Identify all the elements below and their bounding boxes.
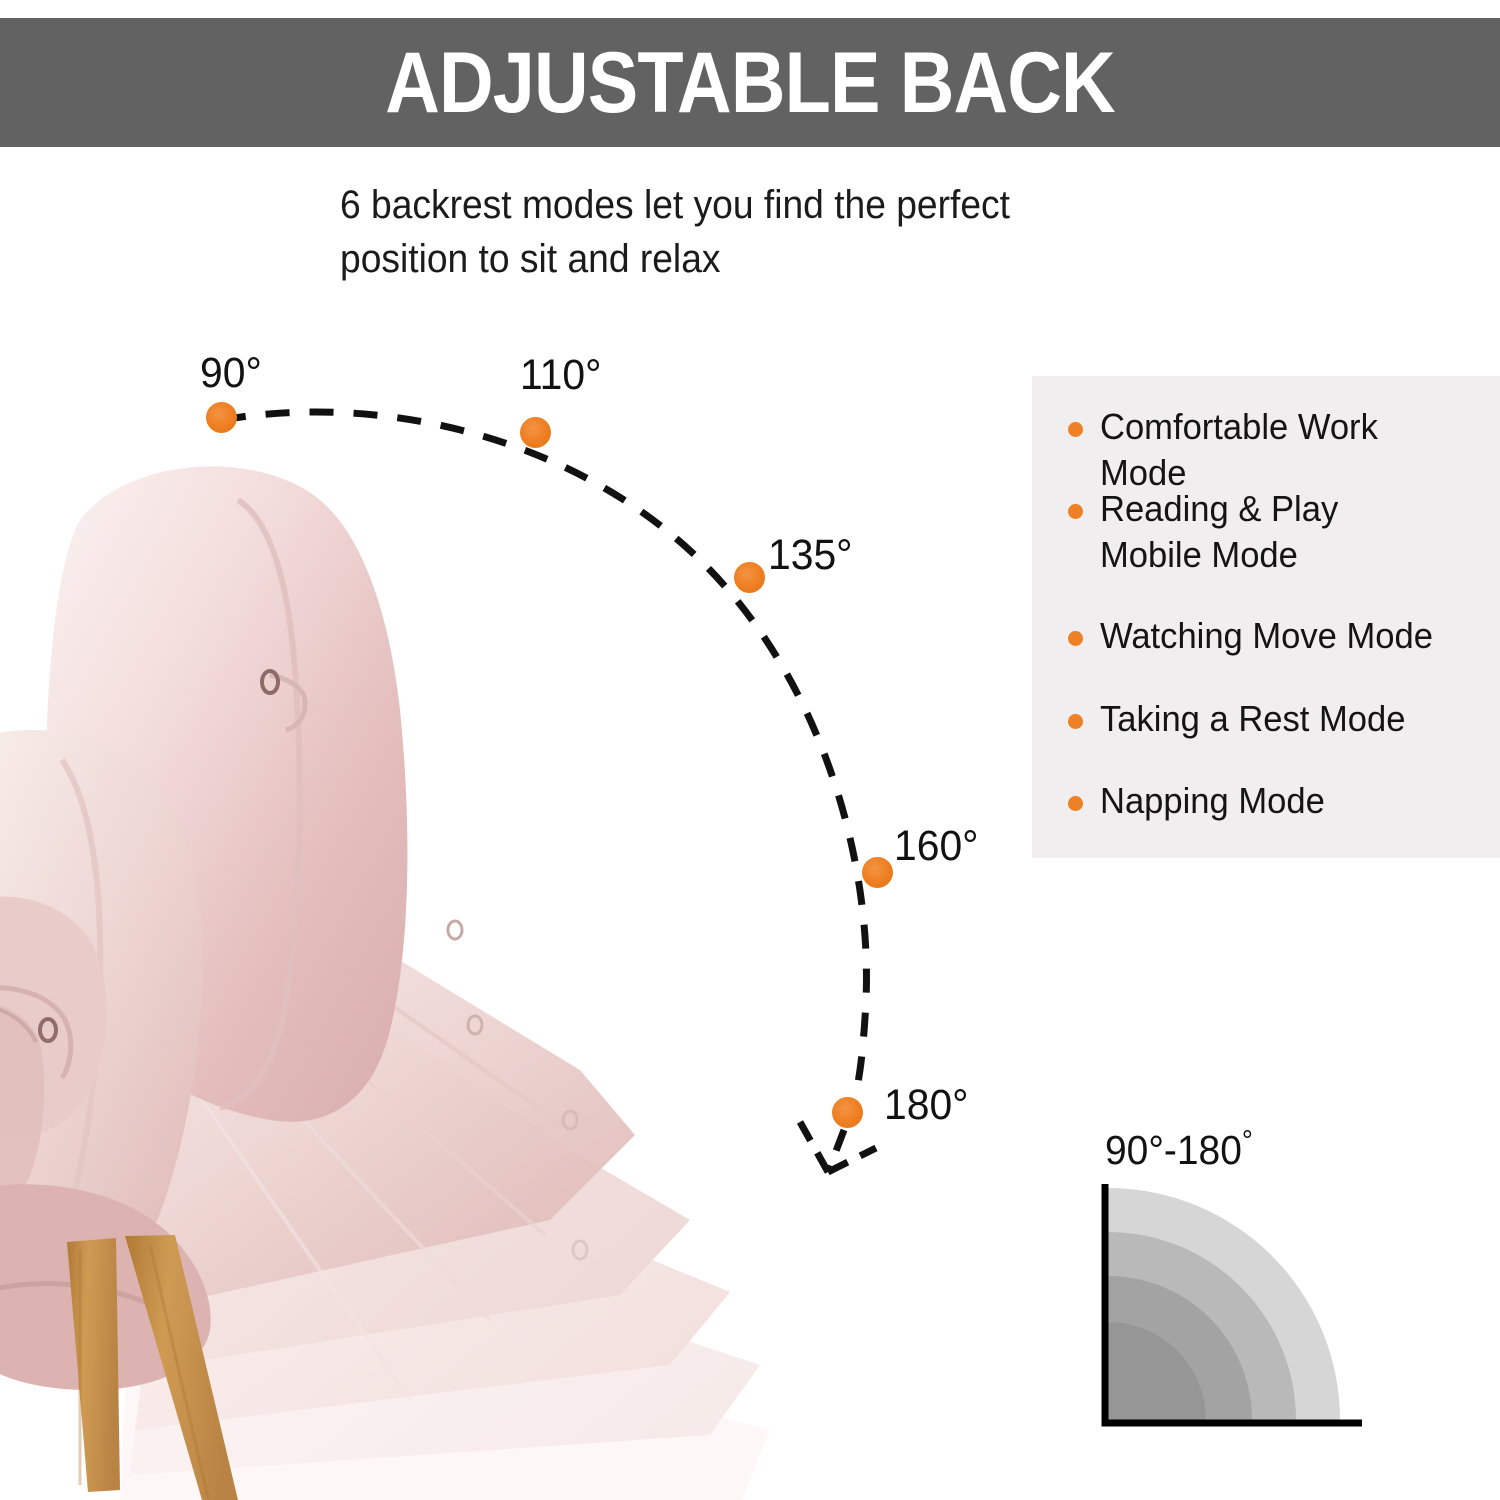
arrow-barb-left xyxy=(800,1122,828,1172)
mode-label: Reading & Play Mobile Mode xyxy=(1100,486,1338,578)
angle-label-135: 135° xyxy=(768,532,853,578)
angle-range-caption: 90°-180° xyxy=(1105,1118,1253,1173)
bullet-icon xyxy=(1068,714,1083,729)
bullet-icon xyxy=(1068,631,1083,646)
angle-label-180: 180° xyxy=(884,1082,969,1128)
bullet-icon xyxy=(1068,504,1083,519)
angle-dot-90[interactable] xyxy=(206,402,237,433)
angle-dot-160[interactable] xyxy=(862,857,893,888)
mode-item-5[interactable]: Napping Mode xyxy=(1068,778,1488,824)
mode-label: Napping Mode xyxy=(1100,778,1325,824)
quarter-circle-diagram xyxy=(1100,1180,1380,1430)
mode-item-4[interactable]: Taking a Rest Mode xyxy=(1068,696,1488,742)
arrow-stem xyxy=(828,1130,844,1172)
page-title: ADJUSTABLE BACK xyxy=(90,33,1410,133)
angle-label-90: 90° xyxy=(200,350,262,396)
angle-label-160: 160° xyxy=(894,823,979,869)
header-banner: ADJUSTABLE BACK xyxy=(0,18,1500,147)
angle-range-legend: 90°-180° xyxy=(1100,1118,1390,1438)
bullet-icon xyxy=(1068,796,1083,811)
mode-item-2[interactable]: Reading & Play Mobile Mode xyxy=(1068,486,1488,578)
mode-label: Comfortable Work Mode xyxy=(1100,404,1472,496)
mode-item-1[interactable]: Comfortable Work Mode xyxy=(1068,404,1488,496)
recliner-chair-image xyxy=(0,430,770,1500)
modes-panel: Comfortable Work Mode Reading & Play Mob… xyxy=(1032,376,1500,858)
degree-symbol-icon: ° xyxy=(1242,1125,1253,1157)
angle-label-110: 110° xyxy=(520,352,601,398)
bullet-icon xyxy=(1068,422,1083,437)
angle-dot-180[interactable] xyxy=(832,1097,863,1128)
subtitle-text: 6 backrest modes let you find the perfec… xyxy=(340,178,1140,286)
arrow-barb-right xyxy=(828,1148,876,1172)
angle-range-value: 90°-180 xyxy=(1105,1127,1242,1173)
mode-label: Watching Move Mode xyxy=(1100,613,1433,659)
mode-label: Taking a Rest Mode xyxy=(1100,696,1405,742)
mode-item-3[interactable]: Watching Move Mode xyxy=(1068,613,1488,659)
